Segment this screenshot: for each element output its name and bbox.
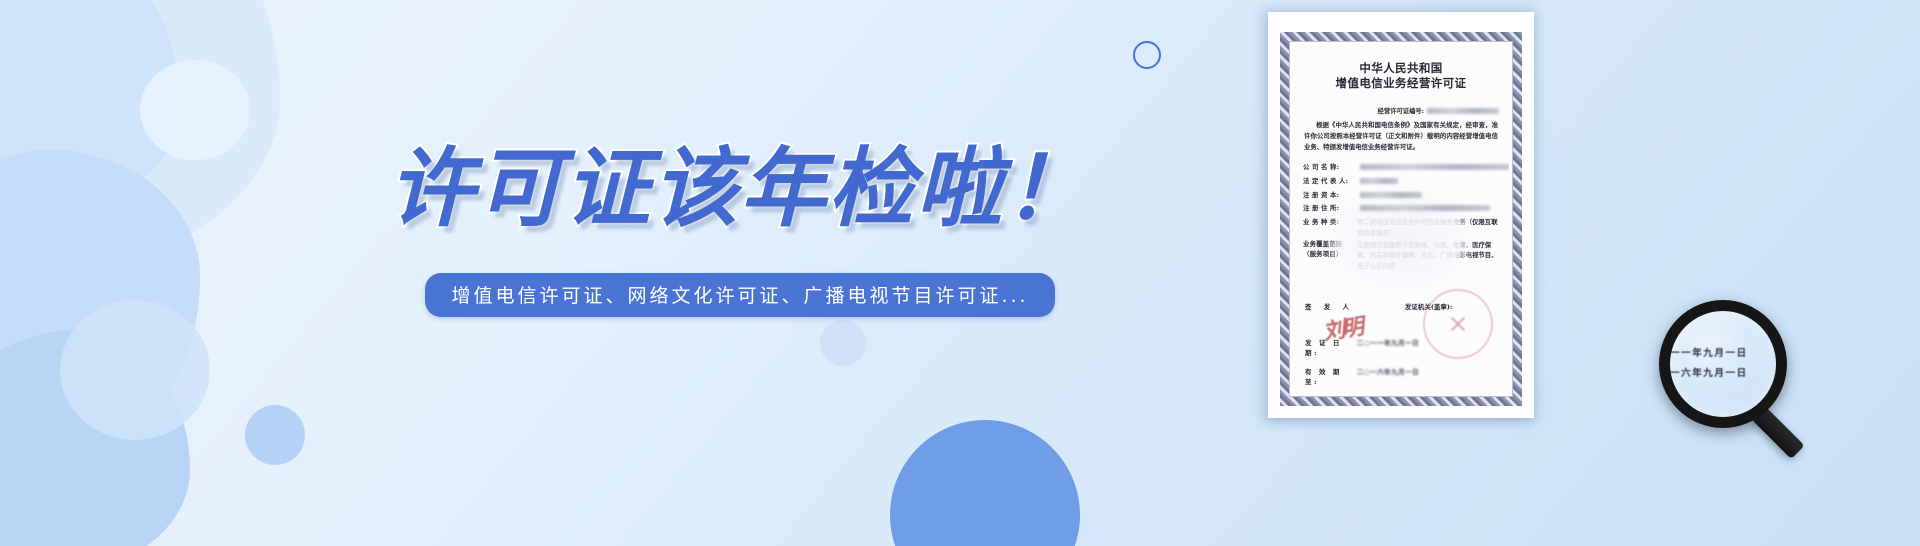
certificate-document: 中华人民共和国 增值电信业务经营许可证 经营许可证编号: 根据《中华人民共和国电… (1268, 12, 1534, 418)
certificate-title: 中华人民共和国 增值电信业务经营许可证 (1293, 61, 1509, 92)
decorative-ring-icon (1133, 41, 1161, 69)
decorative-dot (820, 320, 866, 366)
decorative-blob (245, 405, 305, 465)
redacted-value (1360, 192, 1422, 198)
expiry-date-value: 二○一六年九月一日 (1357, 366, 1497, 386)
certificate-body-text: 根据《中华人民共和国电信条例》及国家有关规定，经审查，准许你公司按照本经营许可证… (1304, 120, 1498, 153)
decorative-blob (60, 300, 210, 440)
promo-banner: 许可证该年检啦！ 许可证该年检啦！ 增值电信许可证、网络文化许可证、广播电视节目… (0, 0, 1920, 546)
magnified-row: 一一年九月一日 (1670, 344, 1776, 364)
expiry-date-label: 有 效 期 至: (1305, 366, 1357, 386)
magnified-issue-date: 一一年九月一日 (1670, 344, 1748, 364)
field-label: 注 册 资 本: (1303, 190, 1357, 200)
certificate-page: 中华人民共和国 增值电信业务经营许可证 经营许可证编号: 根据《中华人民共和国电… (1293, 45, 1509, 393)
magnified-expiry-date: 一六年九月一日 (1670, 364, 1748, 384)
certificate-border: 中华人民共和国 增值电信业务经营许可证 经营许可证编号: 根据《中华人民共和国电… (1280, 32, 1522, 406)
license-number-redacted (1427, 108, 1499, 114)
magnified-row: 一六年九月一日 (1670, 364, 1776, 384)
license-number-label: 经营许可证编号: (1378, 108, 1424, 115)
decorative-circle-large (890, 420, 1080, 546)
certificate-watermark (1326, 185, 1476, 295)
page-title-fill: 许可证该年检啦！ (0, 118, 1480, 243)
magnifier-lens: 一一年九月一日 一六年九月一日 (1659, 300, 1787, 428)
redacted-value (1360, 164, 1509, 170)
magnified-content: 一一年九月一日 一六年九月一日 (1670, 311, 1776, 417)
field-label: 法 定 代 表 人: (1303, 176, 1357, 186)
redacted-value (1360, 178, 1398, 184)
field-row: 公 司 名 称: (1303, 162, 1499, 172)
field-value (1357, 162, 1509, 172)
redacted-value (1360, 205, 1490, 211)
field-label: 公 司 名 称: (1303, 162, 1357, 172)
certificate-title-line1: 中华人民共和国 (1293, 61, 1509, 76)
license-number-row: 经营许可证编号: (1293, 106, 1499, 115)
magnifier-icon: 一一年九月一日 一六年九月一日 (1659, 300, 1809, 450)
issue-date-value: 二○一一年九月一日 (1357, 337, 1497, 357)
certificate-title-line2: 增值电信业务经营许可证 (1293, 76, 1509, 91)
subtitle-container: 增值电信许可证、网络文化许可证、广播电视节目许可证... (0, 273, 1480, 317)
signature-section: 签 发 人 发证机关(盖章): 刘明 (1305, 301, 1497, 311)
field-value (1357, 176, 1499, 186)
subtitle-pill: 增值电信许可证、网络文化许可证、广播电视节目许可证... (425, 273, 1054, 317)
expiry-date-row: 有 效 期 至: 二○一六年九月一日 (1305, 366, 1497, 386)
